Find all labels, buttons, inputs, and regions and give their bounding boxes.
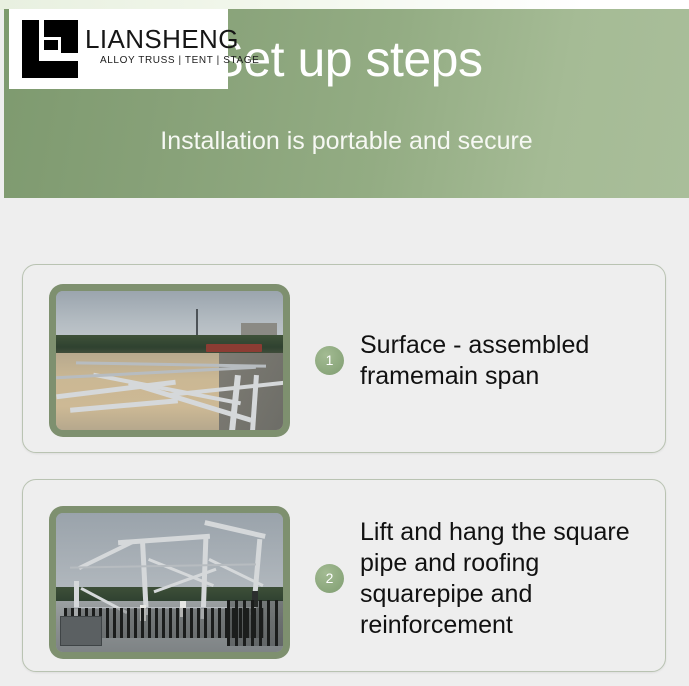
- step-number-badge: 1: [315, 346, 344, 375]
- ls-monogram-icon: [22, 20, 78, 78]
- step-photo-lifted-frame: [56, 513, 283, 652]
- step-photo-assembled-frame: [56, 291, 283, 430]
- step-photo-frame: [49, 284, 290, 437]
- brand-logo: LIANSHENG ALLOY TRUSS | TENT | STAGE: [9, 9, 228, 89]
- page-subtitle: Installation is portable and secure: [4, 125, 689, 157]
- step-photo-frame: [49, 506, 290, 659]
- logo-tagline: ALLOY TRUSS | TENT | STAGE: [100, 55, 259, 67]
- step-card[interactable]: 2 Lift and hang the square pipe and roof…: [22, 479, 666, 672]
- logo-wordmark: LIANSHENG: [85, 25, 239, 53]
- step-content: 1 Surface - assembled framemain span: [315, 284, 657, 437]
- step-content: 2 Lift and hang the square pipe and roof…: [315, 506, 657, 651]
- step-description: Surface - assembled framemain span: [360, 330, 657, 392]
- step-number-badge: 2: [315, 564, 344, 593]
- slide-root: Set up steps Installation is portable an…: [0, 0, 689, 686]
- step-description: Lift and hang the square pipe and roofin…: [360, 517, 657, 641]
- step-card[interactable]: 1 Surface - assembled framemain span: [22, 264, 666, 453]
